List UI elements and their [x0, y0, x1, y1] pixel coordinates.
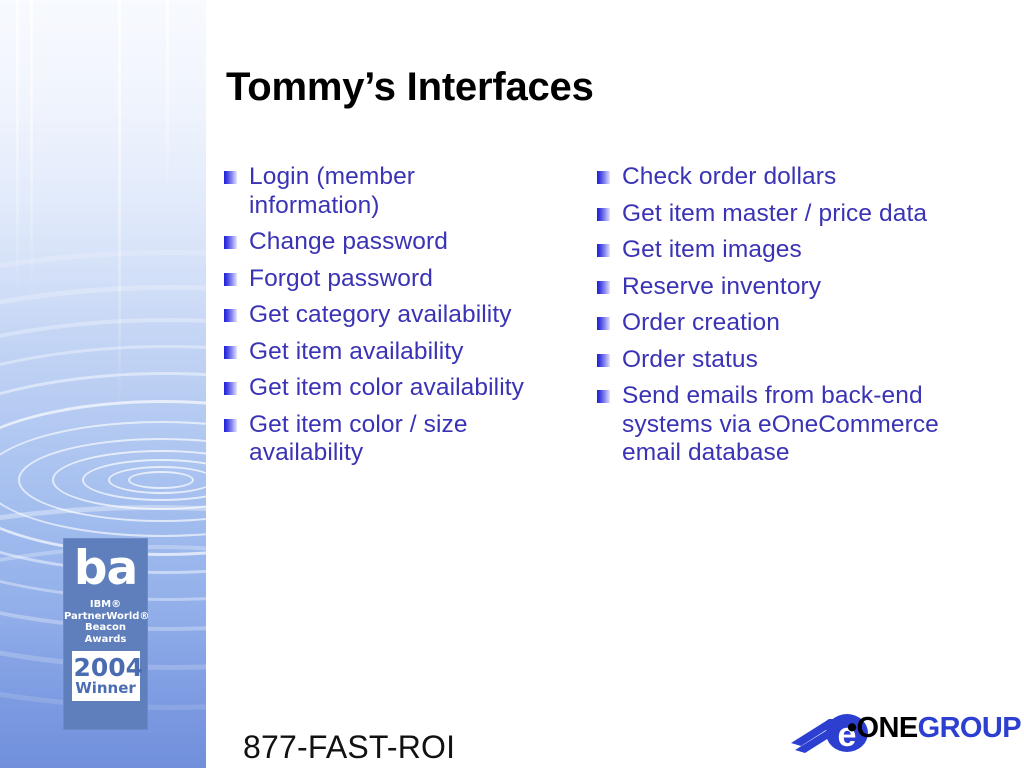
list-item: Change password	[224, 228, 544, 257]
list-item: Get item color / size availability	[224, 411, 544, 468]
water-ripple-background: ba IBM® PartnerWorld® Beacon Awards 2004…	[0, 0, 206, 768]
badge-org-line-3: Beacon	[64, 622, 147, 634]
footer-phone-number: 877-FAST-ROI	[243, 729, 455, 766]
list-item: Login (member information)	[224, 163, 544, 220]
ripple-ring	[128, 471, 194, 489]
bullet-label: Get item color availability	[249, 374, 524, 403]
ibm-beacon-award-badge: ba IBM® PartnerWorld® Beacon Awards 2004…	[63, 538, 148, 730]
bullet-label: Reserve inventory	[622, 273, 821, 302]
ripple-ring	[0, 400, 206, 556]
list-item: Get item color availability	[224, 374, 544, 403]
list-item: Send emails from back-end systems via eO…	[597, 382, 947, 468]
eonegroup-logo: e •ONEGROUP	[789, 709, 1011, 755]
bullet-square-icon	[597, 244, 610, 257]
slide-canvas: ba IBM® PartnerWorld® Beacon Awards 2004…	[0, 0, 1024, 768]
list-item: Get item images	[597, 236, 947, 265]
list-item: Order creation	[597, 309, 947, 338]
badge-monogram: ba	[64, 543, 147, 595]
logo-wordmark: •ONEGROUP	[847, 713, 1021, 743]
bullet-label: Change password	[249, 228, 448, 257]
bullet-label: Get item images	[622, 236, 802, 265]
list-item: Get category availability	[224, 301, 544, 330]
bullet-square-icon	[224, 171, 237, 184]
badge-org-line-4: Awards	[64, 634, 147, 646]
badge-org-line-1: IBM®	[64, 599, 147, 611]
badge-organization: IBM® PartnerWorld® Beacon Awards	[64, 599, 147, 645]
bullet-label: Send emails from back-end systems via eO…	[622, 382, 947, 468]
logo-word-one: •ONE	[847, 712, 918, 744]
bullet-label: Order status	[622, 346, 758, 375]
ripple-ring	[0, 421, 206, 537]
bullet-square-icon	[224, 273, 237, 286]
bullet-square-icon	[224, 382, 237, 395]
bullet-column-right: Check order dollars Get item master / pr…	[597, 163, 947, 476]
ripple-ring	[108, 466, 206, 494]
bullet-label: Get item availability	[249, 338, 464, 367]
list-item: Reserve inventory	[597, 273, 947, 302]
bullet-square-icon	[224, 419, 237, 432]
bullet-label: Get item color / size availability	[249, 411, 544, 468]
sidebar-light-streak	[118, 0, 121, 420]
bullet-label: Forgot password	[249, 265, 433, 294]
bullet-label: Get category availability	[249, 301, 512, 330]
list-item: Order status	[597, 346, 947, 375]
bullet-square-icon	[597, 171, 610, 184]
bullet-label: Check order dollars	[622, 163, 836, 192]
ripple-ring	[52, 450, 206, 510]
bullet-square-icon	[224, 309, 237, 322]
bullet-square-icon	[597, 390, 610, 403]
page-title: Tommy’s Interfaces	[226, 64, 986, 110]
bullet-label: Order creation	[622, 309, 780, 338]
list-item: Check order dollars	[597, 163, 947, 192]
bullet-label: Get item master / price data	[622, 200, 927, 229]
bullet-square-icon	[224, 346, 237, 359]
badge-status: Winner	[74, 680, 138, 696]
list-item: Get item master / price data	[597, 200, 947, 229]
bullet-square-icon	[597, 208, 610, 221]
badge-org-line-2: PartnerWorld®	[64, 611, 147, 623]
bullet-square-icon	[597, 354, 610, 367]
bullet-label: Login (member information)	[249, 163, 544, 220]
bullet-square-icon	[224, 236, 237, 249]
bullet-square-icon	[597, 317, 610, 330]
logo-word-group: GROUP	[918, 712, 1021, 744]
bullet-column-left: Login (member information) Change passwo…	[224, 163, 544, 476]
sidebar-light-streak	[166, 0, 169, 200]
sidebar-light-streak	[30, 0, 33, 300]
badge-year: 2004	[74, 655, 138, 680]
list-item: Get item availability	[224, 338, 544, 367]
badge-year-box: 2004 Winner	[72, 651, 140, 701]
bullet-square-icon	[597, 281, 610, 294]
ripple-ring	[18, 438, 206, 522]
ripple-ring	[82, 459, 206, 501]
sidebar-light-streak	[16, 0, 19, 300]
list-item: Forgot password	[224, 265, 544, 294]
